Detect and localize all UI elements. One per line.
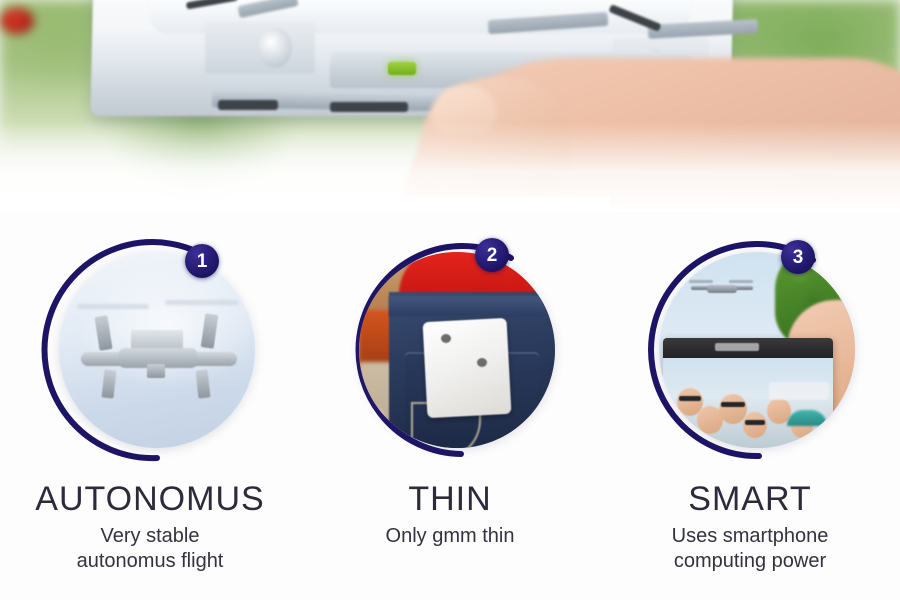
sunglasses-1 — [679, 396, 701, 401]
app-toolbar-logo — [715, 343, 759, 351]
feature-3-description: Uses smartphone computing power — [600, 524, 900, 574]
feature-1-number-badge: 1 — [185, 244, 219, 278]
hero-banner — [0, 0, 900, 212]
feature-3-description-line-2: computing power — [600, 549, 900, 574]
feature-3-circle-group: 3 — [635, 240, 865, 470]
propeller-blur-front-right — [165, 300, 239, 305]
drone-foot-slot-b — [330, 102, 408, 112]
app-toolbar — [663, 338, 833, 358]
feature-2-number-badge: 2 — [475, 238, 509, 272]
flying-drone-icon — [689, 278, 755, 300]
feature-3-photo — [659, 252, 855, 448]
feature-row: 1 AUTONOMUS Very stable autonomus flight — [0, 212, 900, 600]
mini-prop-left — [689, 280, 713, 283]
feature-3-description-line-1: Uses smartphone — [600, 524, 900, 549]
feature-1-description-line-2: autonomus flight — [0, 549, 300, 574]
feature-1-description: Very stable autonomus flight — [0, 524, 300, 574]
propeller-blur-front-left — [77, 304, 149, 309]
feature-2-description: Only gmm thin — [300, 524, 600, 549]
hero-white-patch — [310, 196, 610, 212]
red-flower-blur — [0, 8, 34, 34]
feature-3-number-badge: 3 — [781, 240, 815, 274]
sunglasses-4 — [745, 420, 765, 425]
camera-gimbal — [147, 364, 165, 378]
feature-3-title: SMART — [600, 480, 900, 519]
feature-1-title: AUTONOMUS — [0, 480, 300, 519]
person-face-4 — [743, 412, 767, 438]
mini-drone-body — [707, 285, 737, 293]
feature-2-title: THIN — [300, 480, 600, 519]
mini-prop-right — [729, 280, 753, 283]
feature-2-description-line-1: Only gmm thin — [300, 524, 600, 549]
beach-umbrella — [787, 410, 827, 426]
power-led-indicator — [388, 62, 416, 75]
drone-lens-dot-right — [477, 358, 487, 367]
feature-card-autonomus[interactable]: 1 AUTONOMUS Very stable autonomus flight — [0, 212, 300, 600]
denim-waistband — [389, 296, 555, 316]
feature-card-thin[interactable]: 2 THIN Only gmm thin — [300, 212, 600, 600]
drone-lens-dot-left — [441, 334, 451, 343]
feature-card-smart[interactable]: 3 SMART Uses smartphone computing power — [600, 212, 900, 600]
feature-1-description-line-1: Very stable — [0, 524, 300, 549]
feature-1-circle-group: 1 — [35, 240, 265, 470]
screen-info-panel — [769, 382, 829, 400]
feature-1-photo — [59, 252, 255, 448]
drone-foot-slot-a — [218, 100, 278, 110]
white-drone-in-pocket — [423, 318, 512, 418]
sunglasses-3 — [721, 402, 745, 407]
infographic-page: 1 AUTONOMUS Very stable autonomus flight — [0, 0, 900, 600]
selfie-photo — [663, 358, 833, 448]
feature-2-circle-group: 2 — [335, 240, 565, 470]
drone-left-lens — [258, 28, 292, 68]
feature-2-photo — [359, 252, 555, 448]
smartphone-screen — [663, 338, 833, 448]
